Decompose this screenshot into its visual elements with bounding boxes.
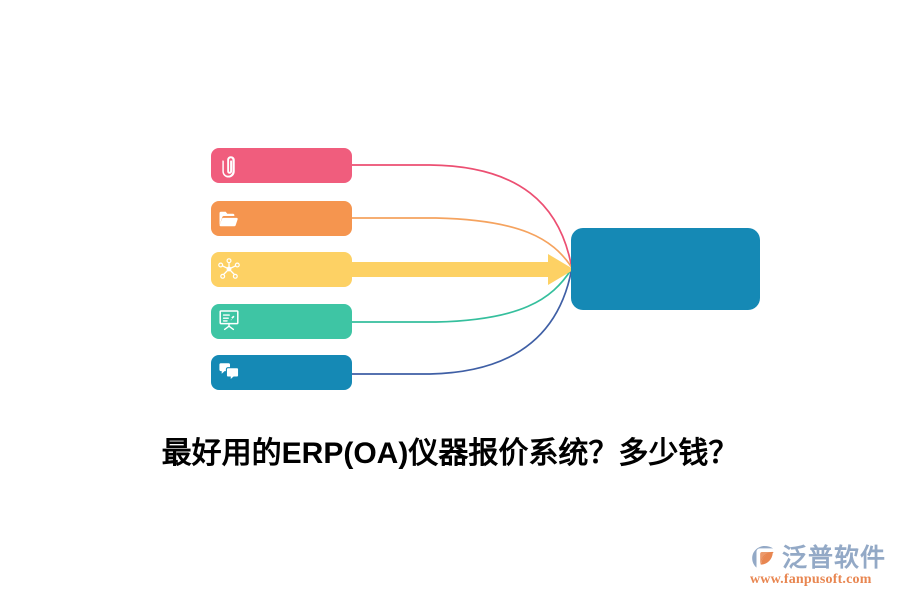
source-bar-2[interactable]: [211, 201, 352, 236]
page-title: 最好用的ERP(OA)仪器报价系统？多少钱？: [0, 432, 900, 476]
source-bar-3[interactable]: [211, 252, 352, 287]
watermark-url: www.fanpusoft.com: [750, 572, 872, 588]
target-box[interactable]: [571, 228, 760, 310]
connector-line-2: [348, 218, 572, 267]
watermark: 泛普软件 www.fanpusoft.com: [749, 543, 886, 588]
source-bar-1[interactable]: [211, 148, 352, 183]
connector-line-1: [348, 165, 572, 267]
converging-arrow-diagram: [0, 0, 900, 430]
page-canvas: 最好用的ERP(OA)仪器报价系统？多少钱？ 泛普软件 www.fanpusof…: [0, 0, 900, 600]
watermark-brand: 泛普软件: [782, 545, 886, 572]
emphasis-arrow: [340, 254, 574, 285]
source-bar-5[interactable]: [211, 355, 352, 390]
fanpusoft-logo-icon: [749, 543, 779, 573]
source-bar-4[interactable]: [211, 304, 352, 339]
